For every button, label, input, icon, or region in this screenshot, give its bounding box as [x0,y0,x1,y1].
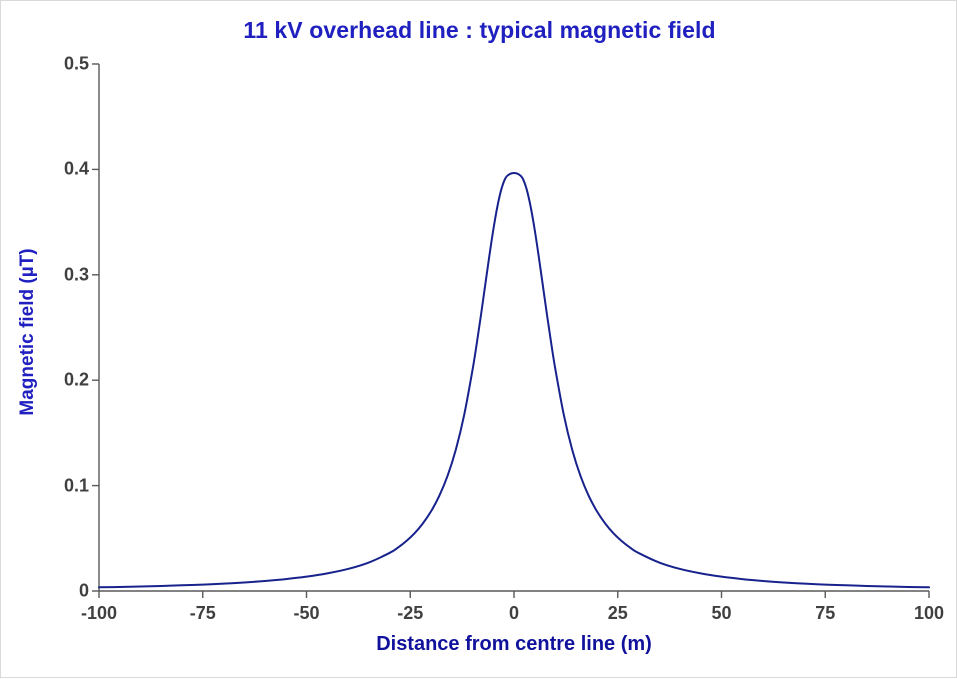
tick-marks [92,64,929,598]
y-tick-label: 0.1 [11,475,89,496]
y-tick-label: 0.3 [11,264,89,285]
y-tick-label: 0.5 [11,54,89,75]
axes [99,64,929,591]
x-tick-label: 25 [608,603,628,624]
x-tick-label: 50 [711,603,731,624]
x-tick-label: -100 [81,603,117,624]
y-tick-label: 0.2 [11,370,89,391]
x-tick-label: 100 [914,603,944,624]
x-tick-label: 75 [815,603,835,624]
plot-area [1,1,957,679]
x-tick-label: -75 [190,603,216,624]
x-tick-label: -25 [397,603,423,624]
y-tick-label: 0 [11,581,89,602]
x-tick-label: -50 [293,603,319,624]
chart-container: 11 kV overhead line : typical magnetic f… [0,0,957,678]
data-series [99,173,929,587]
x-tick-label: 0 [509,603,519,624]
y-tick-label: 0.4 [11,159,89,180]
